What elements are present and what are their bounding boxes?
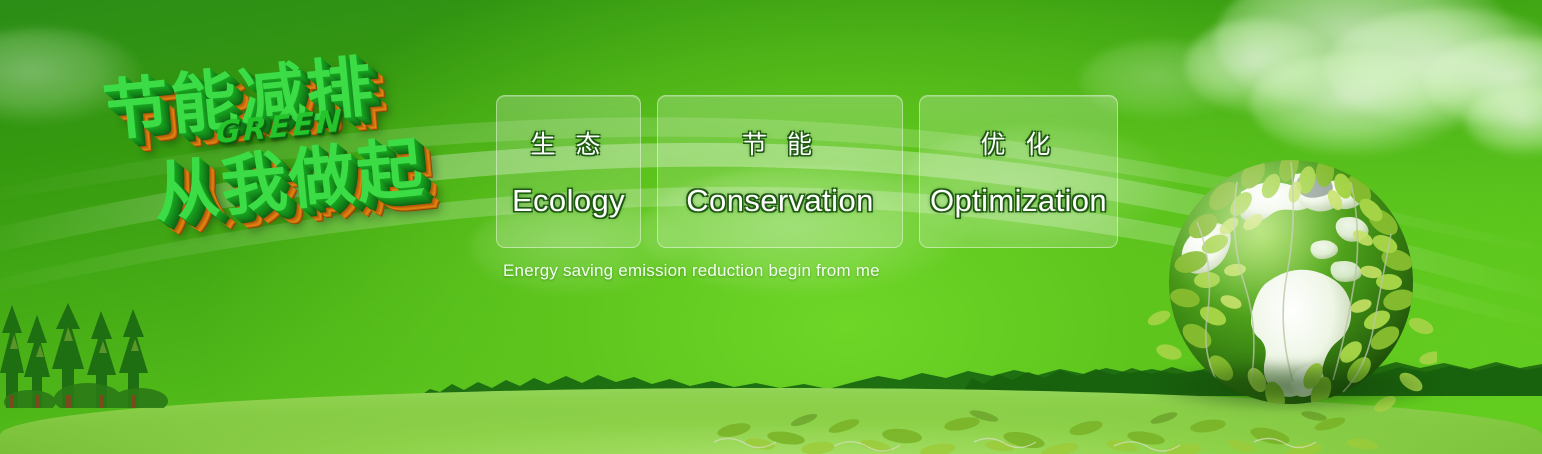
card-title-zh: 优 化 xyxy=(981,125,1057,161)
card-title-en: Optimization xyxy=(930,183,1107,219)
card-title-en: Ecology xyxy=(512,183,625,219)
card-title-zh: 节 能 xyxy=(742,125,818,161)
earth-globe xyxy=(1145,130,1437,422)
pine-trees-icon xyxy=(0,303,180,408)
feature-card-conservation[interactable]: 节 能 Conservation xyxy=(657,95,903,248)
hero-headline: 节能减排 从我做起 GREEN xyxy=(90,19,510,281)
globe-ground-shadow xyxy=(1155,362,1435,410)
cloud-icon xyxy=(1215,0,1515,114)
cloud-icon xyxy=(1325,8,1542,128)
headline-line-2: 从我做起 xyxy=(148,114,428,236)
tagline: Energy saving emission reduction begin f… xyxy=(503,261,880,281)
cloud-icon xyxy=(1425,36,1542,128)
cloud-icon xyxy=(1465,86,1542,156)
cloud-icon xyxy=(1185,18,1335,114)
cloud-icon xyxy=(0,28,142,124)
card-title-en: Conservation xyxy=(686,183,873,219)
feature-card-optimization[interactable]: 优 化 Optimization xyxy=(919,95,1118,248)
feature-card-group: 生 态 Ecology 节 能 Conservation 优 化 Optimiz… xyxy=(496,95,1118,248)
headline-line-1: 节能减排 xyxy=(98,33,378,155)
headline-overlay-green: GREEN xyxy=(215,103,345,151)
card-title-zh: 生 态 xyxy=(531,125,607,161)
feature-card-ecology[interactable]: 生 态 Ecology xyxy=(496,95,641,248)
eco-banner: 节能减排 从我做起 GREEN 生 态 Ecology 节 能 Conserva… xyxy=(0,0,1542,454)
